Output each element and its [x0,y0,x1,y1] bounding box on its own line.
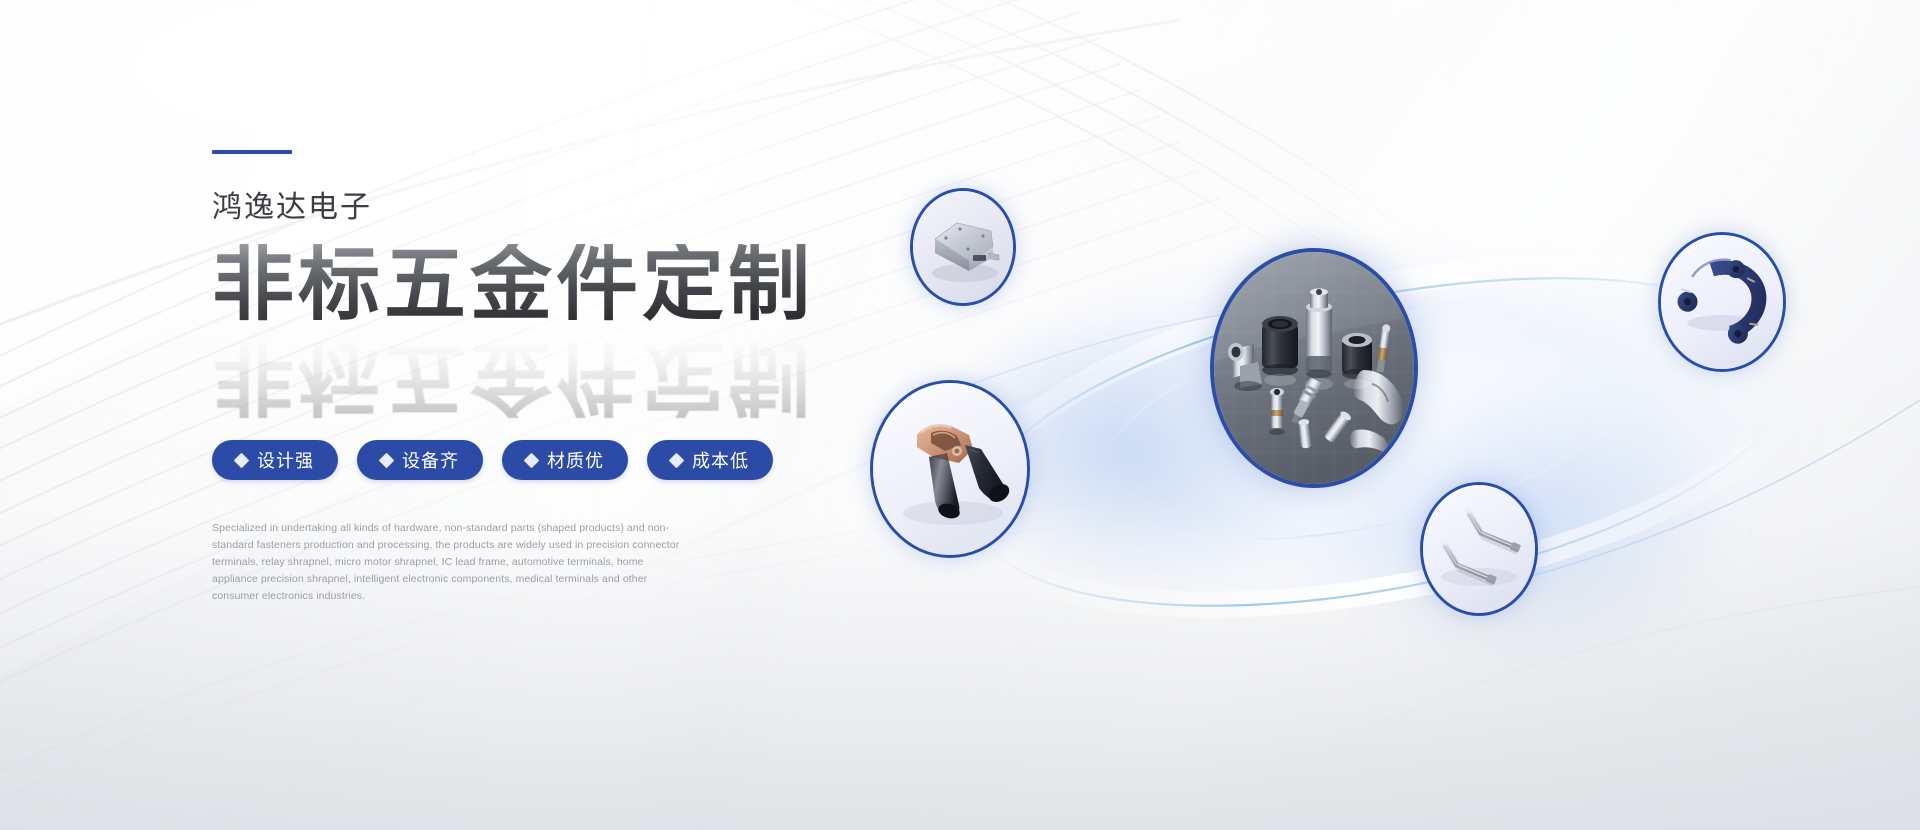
accent-rule [212,150,292,154]
product-showcase [880,120,1920,680]
feature-pill-equipment[interactable]: 设备齐 [357,440,483,480]
bubble-bent-metal-pins[interactable] [1420,482,1538,616]
precision-parts-photo [1214,252,1414,484]
precision-parts-image [1214,252,1414,484]
retaining-ring-icon [1661,235,1783,369]
diamond-icon [669,452,685,468]
hero-text-block: 鸿逸达电子 非标五金件定制 非标五金件定制 设计强 设备齐 材质优 成本低 [212,150,972,605]
feature-pill-label: 设计强 [257,447,314,473]
page-title: 非标五金件定制 [212,244,972,326]
diamond-icon [234,452,250,468]
feature-pill-label: 设备齐 [402,447,459,473]
feature-pill-label: 材质优 [547,447,604,473]
diamond-icon [524,452,540,468]
feature-pill-list: 设计强 设备齐 材质优 成本低 [212,440,972,480]
bent-metal-pins-image [1423,485,1535,613]
brand-name: 鸿逸达电子 [212,190,972,226]
feature-pill-cost[interactable]: 成本低 [647,440,773,480]
feature-pill-label: 成本低 [692,447,749,473]
bubble-retaining-ring[interactable] [1658,232,1786,372]
retaining-ring-image [1661,235,1783,369]
headline-group: 非标五金件定制 非标五金件定制 [212,244,972,404]
feature-pill-design[interactable]: 设计强 [212,440,338,480]
bubble-precision-parts[interactable] [1210,248,1418,488]
feature-pill-material[interactable]: 材质优 [502,440,628,480]
bent-pins-icon [1423,485,1535,613]
company-description: Specialized in undertaking all kinds of … [212,520,682,605]
page-title-reflection: 非标五金件定制 [212,336,814,418]
diamond-icon [379,452,395,468]
hero-banner: 鸿逸达电子 非标五金件定制 非标五金件定制 设计强 设备齐 材质优 成本低 [0,0,1920,830]
